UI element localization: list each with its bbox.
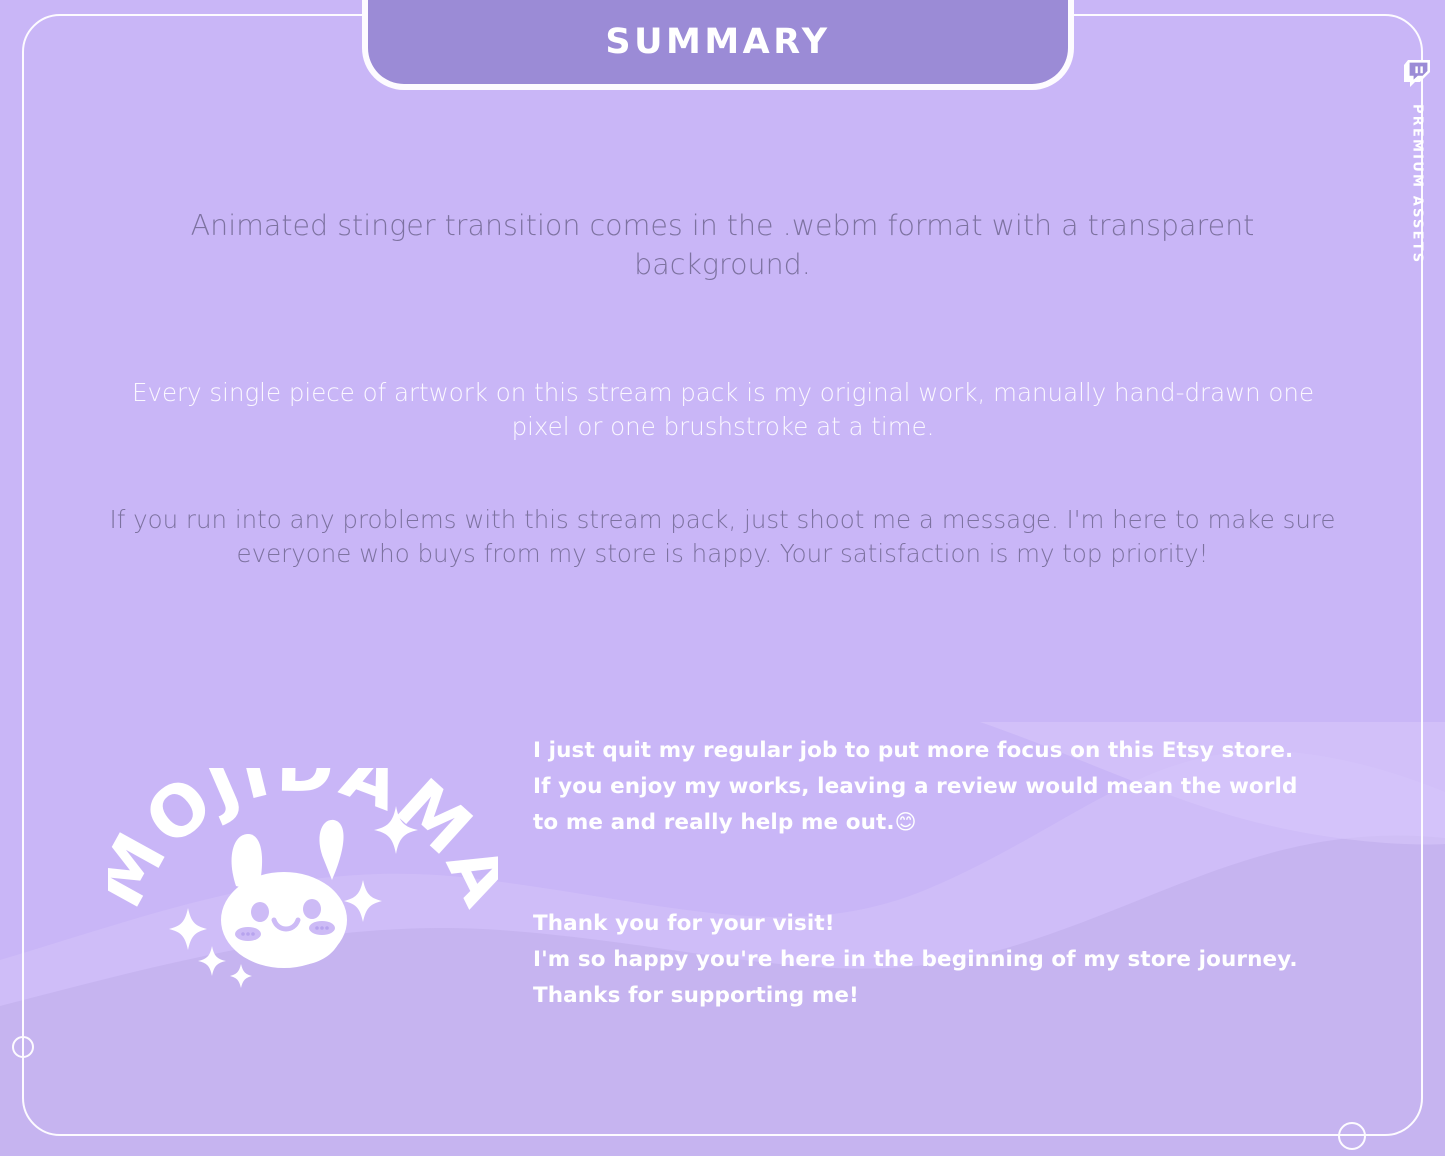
frame-dot-bottom (1338, 1122, 1366, 1150)
frame-dot-left (12, 1036, 34, 1058)
smiling-face-emoji: 😊 (895, 810, 917, 834)
summary-lead-text: Animated stinger transition comes in the… (190, 206, 1255, 285)
support-text: If you run into any problems with this s… (100, 503, 1345, 571)
note-quit-line3: to me and really help me out. (533, 810, 895, 835)
header-tab: SUMMARY (362, 0, 1074, 90)
premium-assets-badge: PREMIUM ASSETS (1395, 60, 1439, 264)
mojidama-logo: MOJIDAMA (108, 768, 498, 988)
note-thanks-line1: Thank you for your visit! (533, 906, 1363, 942)
premium-assets-label: PREMIUM ASSETS (1410, 104, 1425, 264)
note-quit-line2: If you enjoy my works, leaving a review … (533, 769, 1363, 805)
note-quit-line1: I just quit my regular job to put more f… (533, 733, 1363, 769)
bunny-mascot (221, 820, 347, 968)
page-title: SUMMARY (605, 22, 830, 62)
note-thanks-line3: Thanks for supporting me! (533, 978, 1363, 1014)
twitch-icon (1404, 60, 1430, 88)
note-thank-you: Thank you for your visit! I'm so happy y… (533, 906, 1363, 1014)
note-thanks-line2: I'm so happy you're here in the beginnin… (533, 942, 1363, 978)
original-work-text: Every single piece of artwork on this st… (118, 376, 1328, 444)
note-quit-job: I just quit my regular job to put more f… (533, 733, 1363, 841)
note-quit-line3-wrap: to me and really help me out.😊 (533, 805, 1363, 841)
summary-page: SUMMARY PREMIUM ASSETS Animated stinger … (0, 0, 1445, 1156)
